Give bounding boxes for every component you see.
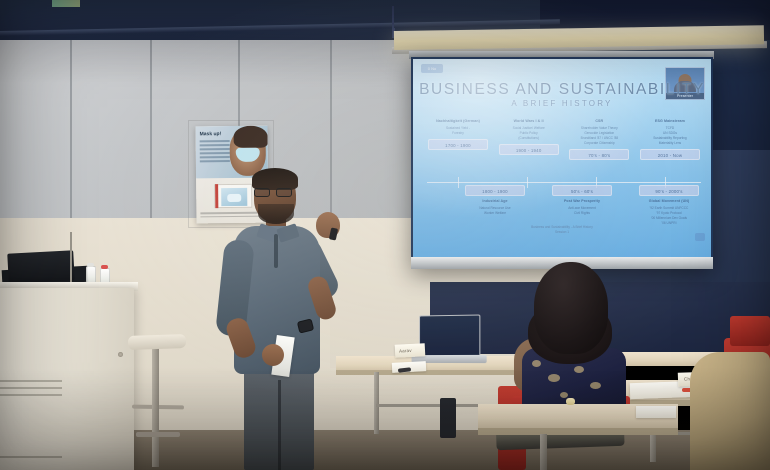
timeline-entry: CSR Shareholder Value Theory Genocide Le…: [568, 119, 630, 181]
timeline-detail: Social Justice/ Welfare Public Policy (C…: [513, 126, 545, 141]
timeline-heading: World Wars I & II: [514, 119, 544, 124]
detail-line: '00 Millennium Dev Goals: [650, 216, 689, 221]
timeline-entry: 1800 - 1900 Industrial Age Natural Resou…: [461, 185, 529, 247]
timeline-period-pill: 2010 - Now: [640, 149, 700, 160]
timeline-detail: Sustained Yield - Forestry: [446, 126, 470, 136]
timeline-period-pill: 90's - 2000's: [639, 185, 699, 196]
detail-line: Materiality Lens: [653, 141, 687, 146]
detail-line: Genocide Legislation: [581, 131, 618, 136]
eyeglass-lens: [254, 188, 270, 197]
presenter-leg-seam: [278, 380, 281, 470]
wall-seam: [70, 40, 72, 240]
timeline-entry: 90's - 2000's Global Movement (UN) '92 E…: [635, 185, 703, 247]
detail-line: Sustained Yield -: [446, 126, 470, 131]
timeline-detail: Anti-war Movement Civil Rights: [568, 206, 595, 216]
stool-base: [136, 432, 180, 437]
poster-person-hair: [233, 126, 267, 148]
projected-slide: 0 No Presenter BUSINESS AND SUSTAINABILI…: [413, 59, 711, 257]
presenter-left-hand: [262, 344, 284, 366]
photo-scene: 0 No Presenter BUSINESS AND SUSTAINABILI…: [0, 0, 770, 470]
detail-line: Anti-war Movement: [568, 206, 595, 211]
name-tent-label: Aarav: [399, 348, 412, 354]
timeline-heading: Post War Prosperity: [564, 199, 600, 204]
floral-motif: [560, 392, 568, 398]
bottle-cap: [101, 265, 108, 269]
projector-screen: 0 No Presenter BUSINESS AND SUSTAINABILI…: [411, 57, 713, 269]
timeline-bottom-row: 1800 - 1900 Industrial Age Natural Resou…: [461, 185, 703, 247]
timeline-heading: Global Movement (UN): [649, 199, 690, 204]
timeline-entry: ESG Mainstream TCFD UN SDGs Sustainabili…: [639, 119, 701, 181]
bar-stool: [128, 334, 186, 350]
timeline-detail: '92 Earth Summit UNFCCC '97 Kyoto Protoc…: [650, 206, 689, 226]
timeline-heading: Nachhaltigkeit (German): [436, 119, 480, 124]
stool-post: [152, 347, 159, 467]
floral-motif: [548, 374, 560, 382]
detail-line: Worker Welfare: [479, 211, 510, 216]
detail-line: Sustainability Reporting: [653, 136, 687, 141]
chair: [730, 316, 770, 346]
detail-line: Social Justice/ Welfare: [513, 126, 545, 131]
presenter: [212, 168, 352, 470]
timeline-heading: CSR: [595, 119, 603, 124]
detail-line: Civil Rights: [568, 211, 595, 216]
lectern-monitor: [7, 250, 74, 283]
lectern-vent-line: [0, 456, 62, 458]
lectern-vent-line: [0, 394, 62, 396]
slide-control-badge[interactable]: [695, 233, 705, 241]
floral-motif: [590, 382, 601, 389]
seated-attendee-right: [690, 352, 770, 470]
detail-line: Shareholder Value Theory: [581, 126, 618, 131]
timeline-entry: 50's - 60's Post War Prosperity Anti-war…: [548, 185, 616, 247]
laptop-screen: [419, 314, 480, 357]
slide-footer-line2: Session 1: [413, 230, 711, 235]
timeline-detail: Natural Resource Use Worker Welfare: [479, 206, 510, 216]
detail-line: Natural Resource Use: [479, 206, 510, 211]
attendee-hair: [534, 262, 608, 354]
timeline-detail: TCFD UN SDGs Sustainability Reporting Ma…: [653, 126, 687, 146]
name-tent: Aarav: [395, 343, 426, 358]
table-leg: [374, 372, 379, 434]
timeline-top-row: Nachhaltigkeit (German) Sustained Yield …: [427, 119, 701, 181]
bottle-cap: [87, 263, 94, 267]
slide-subtitle: A BRIEF HISTORY: [413, 99, 711, 108]
lectern: [0, 288, 134, 470]
poster-headline: Mask up!: [200, 131, 222, 137]
timeline-period-pill: 1900 - 1940: [499, 144, 559, 155]
timeline-heading: Industrial Age: [482, 199, 507, 204]
timeline-period-pill: 1700 - 1900: [428, 139, 488, 150]
detail-line: Brundtland '87 / UNCC '88: [581, 136, 618, 141]
eyeglasses-icon: [254, 188, 296, 197]
detail-line: '92 Earth Summit UNFCCC: [650, 206, 689, 211]
timeline-heading: ESG Mainstream: [655, 119, 685, 124]
floral-motif: [574, 366, 584, 373]
exit-sign: [52, 0, 80, 7]
detail-line: Corporate Citizenship: [581, 141, 618, 146]
detail-line: Forestry: [446, 131, 470, 136]
snack-item: [566, 398, 575, 405]
table-edge: [478, 428, 678, 435]
microphone-stand: [70, 232, 72, 284]
presenter-beard: [258, 204, 294, 224]
slide-badge[interactable]: 0 No: [421, 64, 443, 73]
timeline-period-pill: 50's - 60's: [552, 185, 612, 196]
timeline-entry: World Wars I & II Social Justice/ Welfar…: [498, 119, 560, 181]
paper-sheet: [636, 406, 676, 418]
poster-body-text: [200, 140, 230, 164]
timeline-detail: Shareholder Value Theory Genocide Legisl…: [581, 126, 618, 146]
timeline-axis: [427, 182, 701, 183]
slide-footer: Business and Sustainability - A Brief Hi…: [413, 225, 711, 235]
detail-line: (Constitutions): [513, 136, 545, 141]
lectern-vent-line: [0, 380, 62, 382]
slide-title: BUSINESS AND SUSTAINABILITY: [413, 81, 711, 99]
presenter-shirt-placket: [274, 234, 278, 268]
table-leg: [540, 434, 547, 470]
lectern-lock[interactable]: [118, 352, 123, 357]
wall-seam: [150, 40, 152, 240]
seated-attendee: [518, 262, 628, 470]
presenter-hair: [252, 168, 298, 190]
timeline-entry: Nachhaltigkeit (German) Sustained Yield …: [427, 119, 489, 181]
floral-motif: [532, 360, 541, 367]
presenter-remote[interactable]: [329, 227, 338, 240]
lectern-vent-line: [0, 387, 62, 389]
timeline-period-pill: 70's - 80's: [569, 149, 629, 160]
chair-frame: [440, 398, 456, 438]
timeline-period-pill: 1800 - 1900: [465, 185, 525, 196]
eyeglass-lens: [276, 188, 292, 197]
